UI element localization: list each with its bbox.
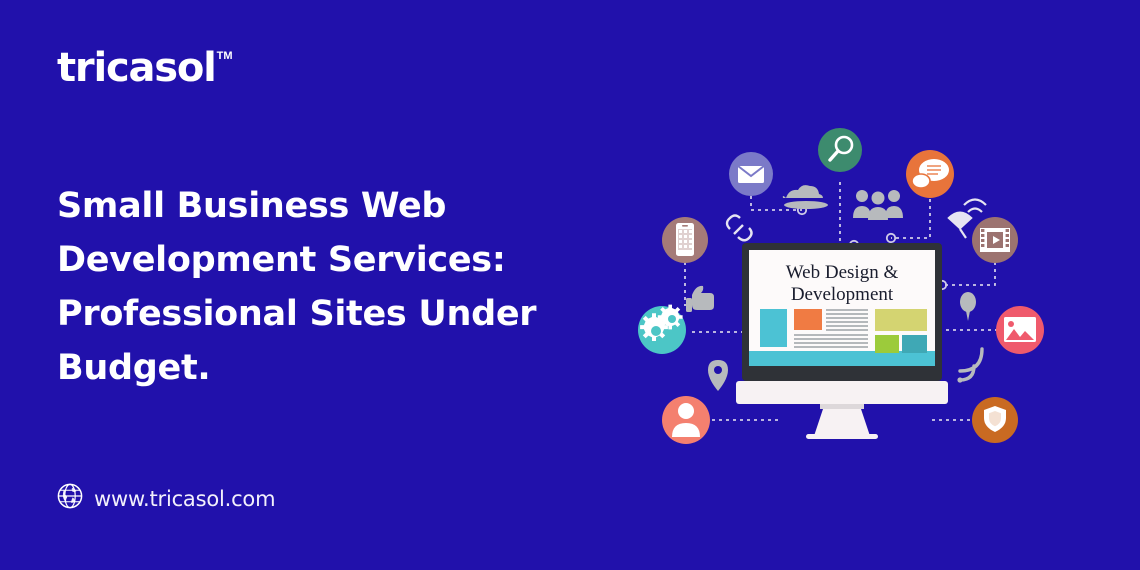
brand-logo[interactable]: tricasol TM [57, 48, 233, 88]
lime-block [875, 335, 899, 353]
teal-block [902, 335, 927, 353]
website-url: www.tricasol.com [94, 487, 275, 511]
promo-banner: tricasol TM Small Business Web Developme… [0, 0, 1140, 570]
trademark-symbol: TM [217, 50, 233, 62]
video-icon [972, 217, 1018, 263]
map-pin-icon [708, 360, 728, 391]
khaki-block [875, 309, 927, 331]
logo-wordmark: tricasol [57, 48, 216, 88]
sidebar-block [760, 309, 787, 347]
shield-icon [972, 397, 1018, 443]
website-link[interactable]: www.tricasol.com [57, 483, 275, 514]
gears-icon [638, 305, 686, 354]
globe-icon [57, 483, 83, 514]
chat-icon [906, 150, 954, 198]
balloon-pin-icon [960, 292, 976, 321]
mail-icon [729, 152, 773, 196]
screen-title-line1: Web Design & [786, 262, 899, 283]
web-design-development-illustration: Web Design & Development [630, 110, 1080, 460]
link-icon [727, 216, 752, 241]
page-title: Small Business Web Development Services:… [57, 180, 587, 396]
image-icon [996, 306, 1044, 354]
screen-title-line2: Development [791, 284, 894, 305]
orange-block [794, 309, 822, 330]
mobile-icon [662, 217, 708, 263]
people-icon [853, 190, 903, 220]
user-icon [662, 396, 710, 444]
cloud-icon [783, 185, 828, 209]
thumbs-up-icon [686, 286, 714, 312]
rss-icon [957, 349, 982, 383]
desktop-monitor: Web Design & Development [736, 243, 948, 439]
search-icon [818, 128, 862, 172]
